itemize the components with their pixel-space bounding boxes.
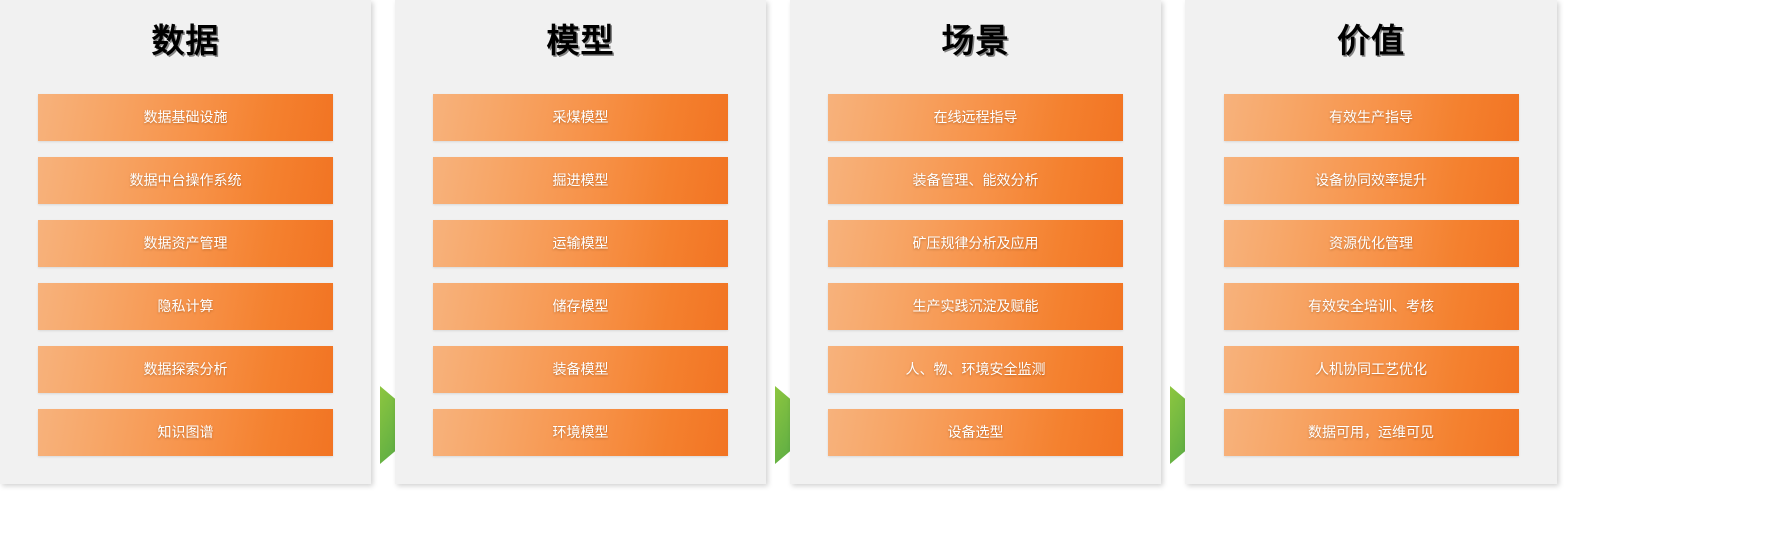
list-item[interactable]: 有效生产指导 bbox=[1224, 94, 1519, 141]
list-item[interactable]: 环境模型 bbox=[433, 409, 728, 456]
list-item[interactable]: 装备管理、能效分析 bbox=[828, 157, 1123, 204]
list-item[interactable]: 隐私计算 bbox=[38, 283, 333, 330]
item-list-value: 有效生产指导 设备协同效率提升 资源优化管理 有效安全培训、考核 人机协同工艺优… bbox=[1185, 94, 1557, 456]
list-item[interactable]: 数据中台操作系统 bbox=[38, 157, 333, 204]
list-item[interactable]: 人、物、环境安全监测 bbox=[828, 346, 1123, 393]
panel-data: 数据 数据基础设施 数据中台操作系统 数据资产管理 隐私计算 数据探索分析 知识… bbox=[0, 0, 371, 484]
list-item[interactable]: 有效安全培训、考核 bbox=[1224, 283, 1519, 330]
panel-title-scene: 场景 bbox=[790, 24, 1161, 57]
list-item[interactable]: 矿压规律分析及应用 bbox=[828, 220, 1123, 267]
list-item[interactable]: 数据资产管理 bbox=[38, 220, 333, 267]
process-flow-diagram: 数据 数据基础设施 数据中台操作系统 数据资产管理 隐私计算 数据探索分析 知识… bbox=[0, 0, 1770, 538]
list-item[interactable]: 数据探索分析 bbox=[38, 346, 333, 393]
panel-title-value: 价值 bbox=[1185, 24, 1557, 57]
panel-value: 价值 有效生产指导 设备协同效率提升 资源优化管理 有效安全培训、考核 人机协同… bbox=[1185, 0, 1557, 484]
list-item[interactable]: 掘进模型 bbox=[433, 157, 728, 204]
panel-model: 模型 采煤模型 掘进模型 运输模型 储存模型 装备模型 环境模型 bbox=[395, 0, 766, 484]
item-list-scene: 在线远程指导 装备管理、能效分析 矿压规律分析及应用 生产实践沉淀及赋能 人、物… bbox=[790, 94, 1161, 456]
list-item[interactable]: 数据可用，运维可见 bbox=[1224, 409, 1519, 456]
list-item[interactable]: 生产实践沉淀及赋能 bbox=[828, 283, 1123, 330]
list-item[interactable]: 储存模型 bbox=[433, 283, 728, 330]
list-item[interactable]: 人机协同工艺优化 bbox=[1224, 346, 1519, 393]
list-item[interactable]: 设备协同效率提升 bbox=[1224, 157, 1519, 204]
item-list-data: 数据基础设施 数据中台操作系统 数据资产管理 隐私计算 数据探索分析 知识图谱 bbox=[0, 94, 371, 456]
list-item[interactable]: 采煤模型 bbox=[433, 94, 728, 141]
list-item[interactable]: 装备模型 bbox=[433, 346, 728, 393]
panel-title-model: 模型 bbox=[395, 24, 766, 57]
list-item[interactable]: 资源优化管理 bbox=[1224, 220, 1519, 267]
list-item[interactable]: 运输模型 bbox=[433, 220, 728, 267]
list-item[interactable]: 设备选型 bbox=[828, 409, 1123, 456]
list-item[interactable]: 知识图谱 bbox=[38, 409, 333, 456]
panel-title-data: 数据 bbox=[0, 24, 371, 57]
list-item[interactable]: 数据基础设施 bbox=[38, 94, 333, 141]
panel-scene: 场景 在线远程指导 装备管理、能效分析 矿压规律分析及应用 生产实践沉淀及赋能 … bbox=[790, 0, 1161, 484]
list-item[interactable]: 在线远程指导 bbox=[828, 94, 1123, 141]
item-list-model: 采煤模型 掘进模型 运输模型 储存模型 装备模型 环境模型 bbox=[395, 94, 766, 456]
